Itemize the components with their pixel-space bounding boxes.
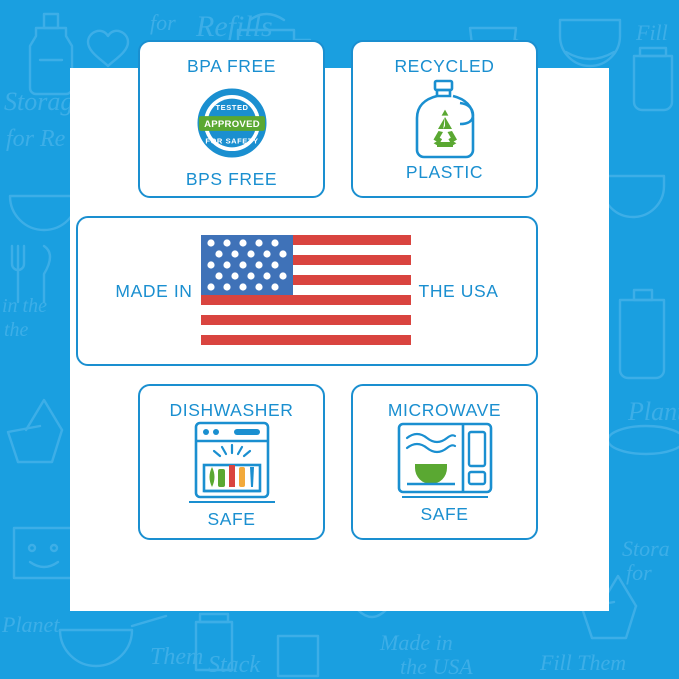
dishwasher-divider <box>189 501 275 503</box>
doodle-word: Made in <box>379 630 453 655</box>
microwave-bottom-label: SAFE <box>353 504 536 525</box>
doodle-word: Stack <box>208 652 260 678</box>
usa-flag-icon <box>201 235 411 347</box>
microwave-icon <box>397 421 493 496</box>
doodle-word: Planet <box>1 612 60 637</box>
badge-dishwasher-safe[interactable]: DISHWASHER <box>138 384 325 540</box>
doodle-word: Them <box>150 644 203 670</box>
doodle-word: Fill Them <box>539 650 626 675</box>
usa-left-label: MADE IN <box>115 281 192 302</box>
microwave-divider <box>402 496 488 498</box>
doodle-word: in the <box>2 295 47 317</box>
badge-bpa-free[interactable]: BPA FREE APPROVED TESTED FOR SAFETY BPS … <box>138 40 325 198</box>
recycled-bottom-label: PLASTIC <box>406 162 483 183</box>
seal-bottom-text: FOR SAFETY <box>205 137 258 146</box>
badge-microwave-safe[interactable]: MICROWAVE <box>351 384 538 540</box>
infographic-canvas: for Refills Fill Storage for Re in the t… <box>0 0 679 679</box>
seal-top-text: TESTED <box>215 103 248 112</box>
dishwasher-top-label: DISHWASHER <box>170 400 294 421</box>
badge-recycled-plastic[interactable]: RECYCLED <box>351 40 538 198</box>
doodle-word: the USA <box>400 654 473 679</box>
recycled-jug-icon <box>408 77 482 162</box>
doodle-word: the <box>4 319 29 341</box>
doodle-word: for <box>626 560 652 585</box>
microwave-top-label: MICROWAVE <box>388 400 501 421</box>
dishwasher-bottom-label: SAFE <box>140 509 323 530</box>
bpa-top-label: BPA FREE <box>187 56 276 77</box>
usa-right-label: THE USA <box>419 281 499 302</box>
seal-center-text: APPROVED <box>204 119 260 130</box>
dishwasher-icon <box>190 421 274 501</box>
doodle-word: for Re <box>6 126 66 152</box>
badge-grid: BPA FREE APPROVED TESTED FOR SAFETY BPS … <box>70 22 470 522</box>
recycled-top-label: RECYCLED <box>394 56 494 77</box>
doodle-word: Plant <box>627 397 679 426</box>
doodle-word: Stora <box>622 536 670 561</box>
badge-made-in-usa[interactable]: MADE IN <box>76 216 538 366</box>
bpa-bottom-label: BPS FREE <box>186 169 277 190</box>
doodle-word: Fill <box>635 20 668 45</box>
approval-seal-icon: APPROVED TESTED FOR SAFETY <box>186 77 278 169</box>
